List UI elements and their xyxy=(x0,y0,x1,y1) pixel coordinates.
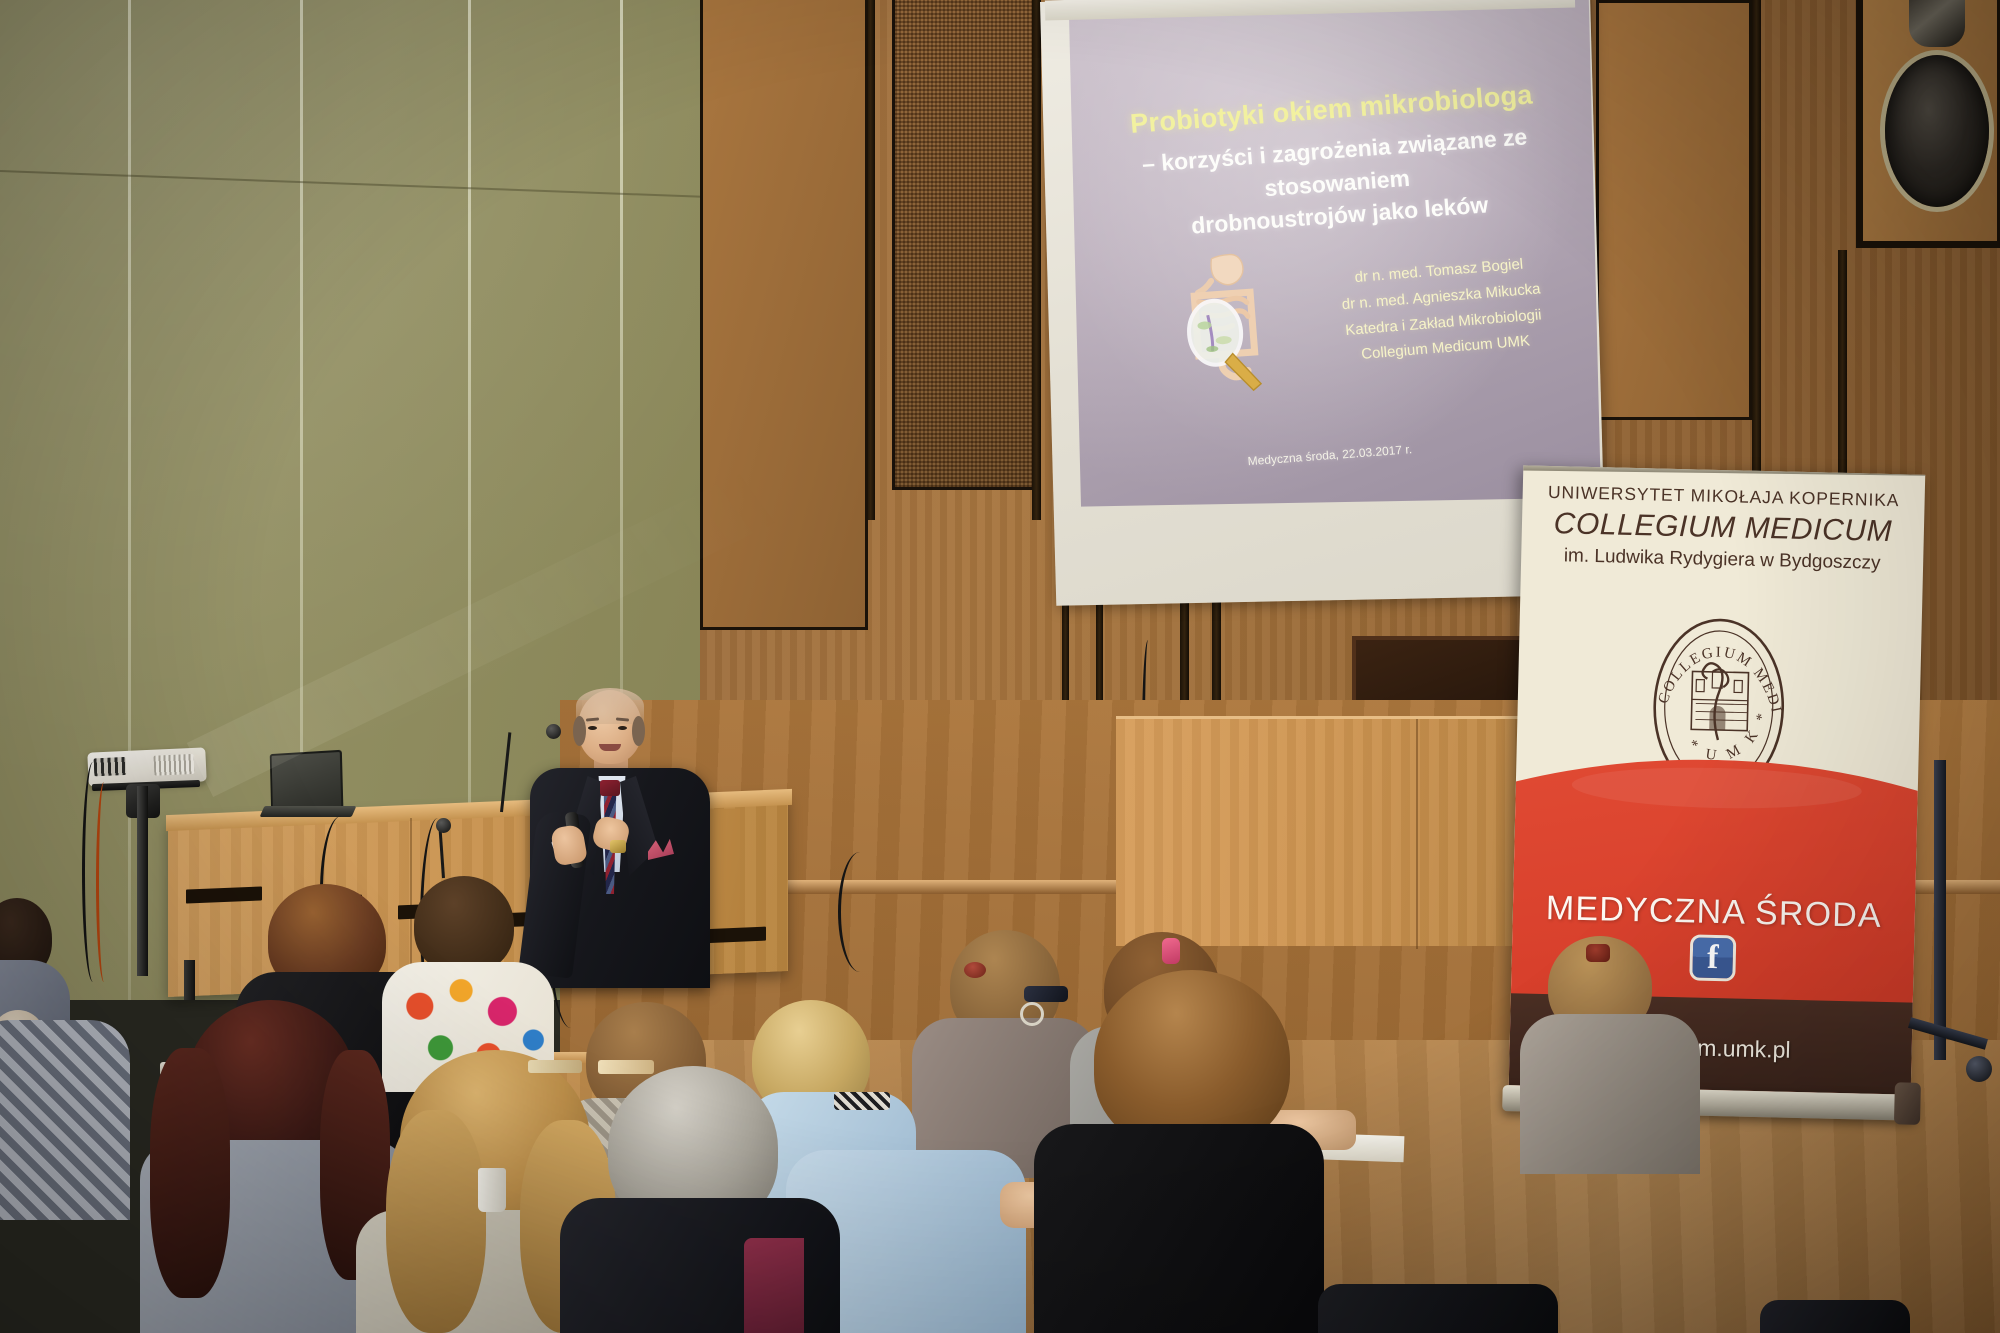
presenter-hair-side xyxy=(632,716,645,746)
wall-panel-seam xyxy=(128,0,131,1000)
wood-wall-panel xyxy=(1596,0,1752,420)
banner-faculty-line: COLLEGIUM MEDICUM xyxy=(1522,506,1925,549)
projector-ports xyxy=(94,757,127,776)
gooseneck-microphone-head xyxy=(546,724,561,739)
acoustic-mesh-panel xyxy=(892,0,1040,490)
presentation-slide: Probiotyki okiem mikrobiologa – korzyści… xyxy=(1069,0,1601,507)
hair-clip xyxy=(598,1060,654,1074)
projector-signal-cable xyxy=(96,782,112,982)
projector-tripod-pole xyxy=(137,786,148,976)
presenter-eye xyxy=(588,726,597,730)
list-item xyxy=(1760,1300,1910,1333)
hair-tie xyxy=(1162,938,1180,964)
hair-clip xyxy=(528,1060,582,1073)
banner-heading-block: UNIWERSYTET MIKOŁAJA KOPERNIKA COLLEGIUM… xyxy=(1521,481,1925,575)
partition-seam xyxy=(1416,719,1418,949)
drink-cup xyxy=(478,1168,506,1212)
wall-panel-seam xyxy=(620,0,623,760)
list-item xyxy=(150,1048,230,1298)
list-item xyxy=(386,1110,486,1333)
list-item xyxy=(1034,1124,1324,1333)
list-item xyxy=(1318,1284,1558,1333)
tweeter-horn xyxy=(1909,0,1965,47)
facebook-icon[interactable]: f xyxy=(1692,937,1733,978)
banner-patron-line: im. Ludwika Rydygiera w Bydgoszczy xyxy=(1521,544,1923,575)
banner-arc-highlight xyxy=(1572,765,1862,812)
presenter-eye xyxy=(618,726,627,730)
digestive-tract-with-magnifier-icon xyxy=(1159,248,1290,406)
wood-wall-panel xyxy=(700,0,868,630)
list-item xyxy=(1520,1014,1700,1174)
woofer-cone xyxy=(1885,55,1989,207)
list-item xyxy=(1094,970,1290,1150)
floor-cable xyxy=(838,852,882,972)
presenter-laptop[interactable] xyxy=(270,750,344,808)
list-item xyxy=(414,876,514,974)
lecture-hall-photo: Probiotyki okiem mikrobiologa – korzyści… xyxy=(0,0,2000,1333)
presenter-mouth xyxy=(599,744,621,751)
presenter-hair-side xyxy=(573,716,586,746)
wood-trim-strip xyxy=(1032,0,1041,520)
equipment-stand-caster-wheel xyxy=(1966,1056,1992,1082)
equipment-stand-post xyxy=(1934,760,1946,1060)
list-item xyxy=(744,1238,804,1333)
presenter-necktie-knot xyxy=(600,780,620,796)
hair-clip xyxy=(964,962,986,978)
hair-clip xyxy=(1586,944,1610,962)
slide-author-block: dr n. med. Tomasz Bogiel dr n. med. Agni… xyxy=(1304,248,1580,372)
hoop-earring xyxy=(1020,1002,1044,1026)
projector-vents xyxy=(153,754,194,776)
presenter-wristwatch xyxy=(610,840,626,853)
desk-leg xyxy=(184,960,195,1000)
desk-seam xyxy=(410,818,412,978)
list-item xyxy=(0,1020,130,1220)
banner-base-endcap xyxy=(1894,1082,1921,1125)
personal-item xyxy=(834,1092,890,1110)
wall-mounted-loudspeaker xyxy=(1856,0,2000,248)
eyeglasses xyxy=(1024,986,1068,1002)
